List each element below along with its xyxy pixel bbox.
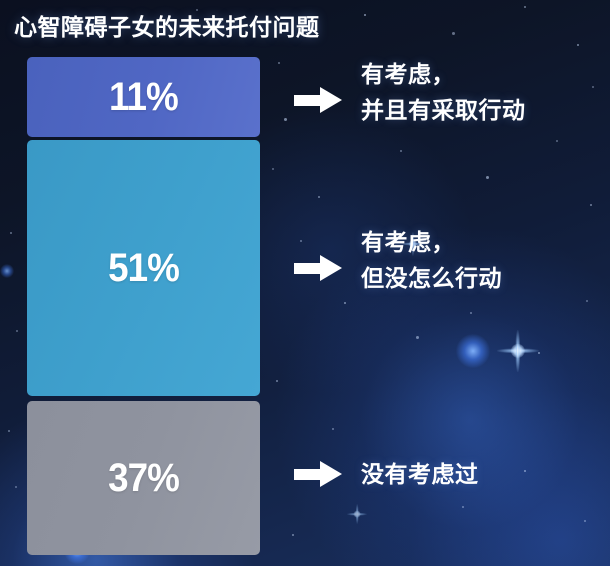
infographic-canvas: 心智障碍子女的未来托付问题 11% 51% 37% 有考虑， 并且有采取行动 有… xyxy=(0,0,610,566)
segment-label-1-line1: 有考虑， xyxy=(361,56,526,92)
segment-label-3-line1: 没有考虑过 xyxy=(361,456,479,492)
segment-label-2: 有考虑， 但没怎么行动 xyxy=(361,224,502,296)
arrow-right-icon-1 xyxy=(294,87,342,113)
bar-segment-2[interactable]: 51% xyxy=(27,140,260,396)
arrow-head xyxy=(320,461,342,487)
bar-segment-1[interactable]: 11% xyxy=(27,57,260,137)
arrow-head xyxy=(320,87,342,113)
segment-label-2-line2: 但没怎么行动 xyxy=(361,260,502,296)
segment-label-1: 有考虑， 并且有采取行动 xyxy=(361,56,526,128)
bar-percent-3: 37% xyxy=(108,456,179,501)
arrow-head xyxy=(320,255,342,281)
bar-percent-2: 51% xyxy=(108,246,179,291)
arrow-right-icon-3 xyxy=(294,461,342,487)
bar-percent-1: 11% xyxy=(109,75,178,120)
segment-label-1-line2: 并且有采取行动 xyxy=(361,92,526,128)
bar-segment-3[interactable]: 37% xyxy=(27,401,260,555)
page-title: 心智障碍子女的未来托付问题 xyxy=(14,8,320,42)
segment-label-3: 没有考虑过 xyxy=(361,456,479,492)
segment-label-2-line1: 有考虑， xyxy=(361,224,502,260)
arrow-right-icon-2 xyxy=(294,255,342,281)
